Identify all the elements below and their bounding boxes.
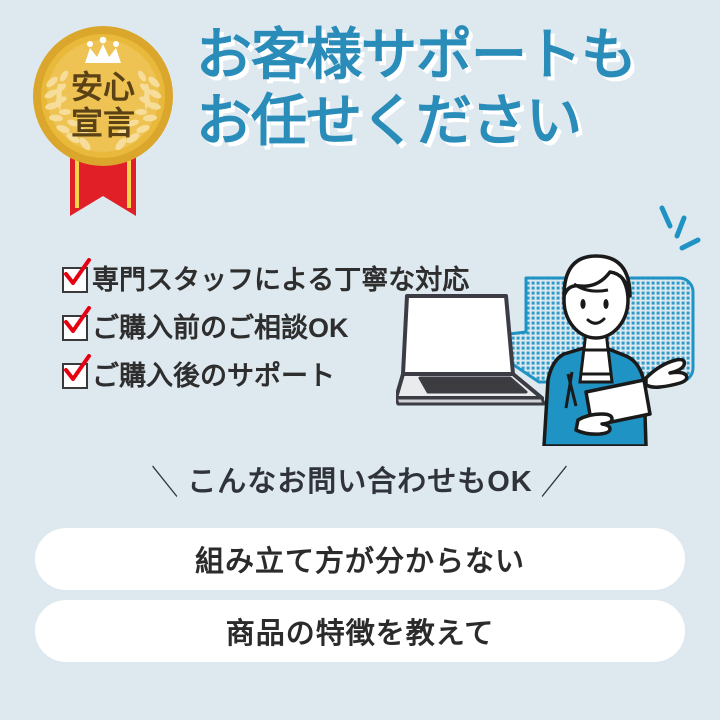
inquiry-example-pill[interactable]: 組み立て方が分からない (35, 528, 685, 590)
checklist-item-label: ご購入後のサポート (92, 361, 335, 391)
sparkle-lines-icon (662, 208, 698, 248)
inquiry-example-label: 組み立て方が分からない (195, 538, 525, 580)
badge-line1: 安心 (71, 68, 135, 106)
support-staff-illustration (396, 196, 720, 446)
checklist-item-label: ご購入前のご相談OK (92, 313, 349, 343)
badge-line2: 宣言 (71, 104, 135, 142)
inquiry-example-label: 商品の特徴を教えて (226, 610, 495, 652)
inquiry-examples-label: こんなお問い合わせもOK (187, 466, 533, 498)
checked-checkbox-icon (62, 315, 88, 341)
inquiry-examples-heading: ＼こんなお問い合わせもOK／ (0, 458, 720, 500)
inquiry-example-pill[interactable]: 商品の特徴を教えて (35, 600, 685, 662)
page-title: お客様サポートも お任せください (196, 22, 706, 154)
slash-left-icon: ＼ (151, 455, 179, 504)
checked-checkbox-icon (62, 267, 88, 293)
headline-line-2: お任せください (196, 88, 706, 154)
customer-support-banner: 安心 宣言 お客様サポートも お任せください 専門スタッフによる丁寧な対応 ご購… (0, 0, 720, 720)
checked-checkbox-icon (62, 363, 88, 389)
headline-line-1: お客様サポートも (196, 23, 636, 86)
slash-right-icon: ／ (541, 455, 569, 504)
award-medal-icon: 安心 宣言 (28, 18, 178, 218)
